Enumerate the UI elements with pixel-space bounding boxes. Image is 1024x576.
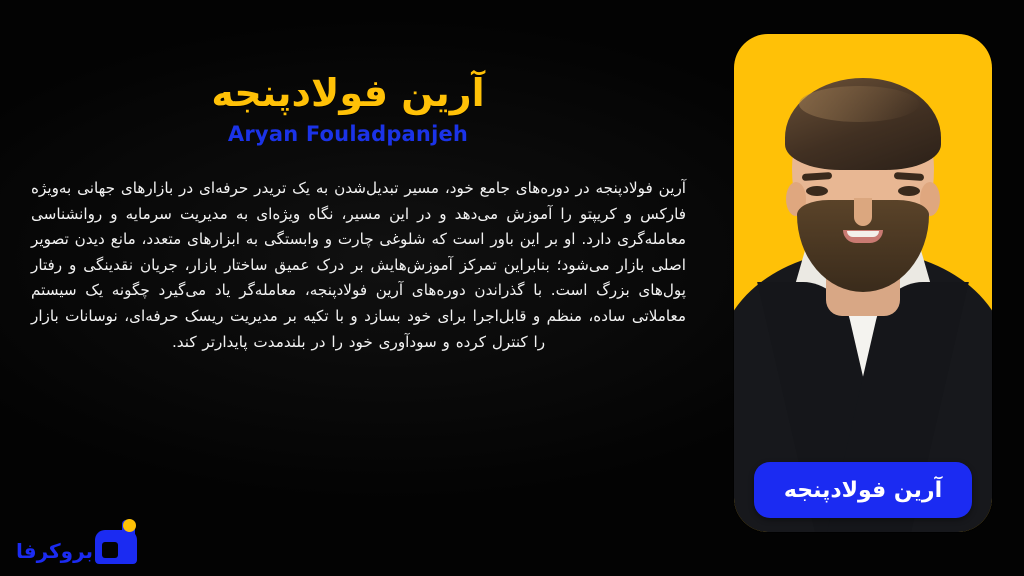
text-column: آرین فولادپنجه Aryan Fouladpanjeh آرین ف… [26,0,688,576]
biography-paragraph: آرین فولادپنجه در دوره‌های جامع خود، مسی… [31,176,686,355]
page-title-persian: آرین فولادپنجه [26,72,670,116]
title-block: آرین فولادپنجه Aryan Fouladpanjeh [26,72,688,146]
portrait-nose [854,198,872,226]
brokerfa-mark-icon [95,520,137,564]
brokerfa-logo[interactable]: بروکرفا [16,520,137,564]
brokerfa-wordmark: بروکرفا [16,541,93,564]
portrait-hair [785,78,941,170]
name-badge-label: آرین فولادپنجه [784,478,942,503]
portrait-card: آرین فولادپنجه [734,34,992,532]
logo-notch-shape [102,542,118,558]
logo-dot-icon [123,519,136,532]
poster-canvas: آرین فولادپنجه Aryan Fouladpanjeh آرین ف… [0,0,1024,576]
portrait-eye-right [898,186,920,196]
name-badge[interactable]: آرین فولادپنجه [754,462,972,518]
portrait-eye-left [806,186,828,196]
portrait-photo [734,34,992,532]
page-subtitle-english: Aryan Fouladpanjeh [26,122,670,146]
